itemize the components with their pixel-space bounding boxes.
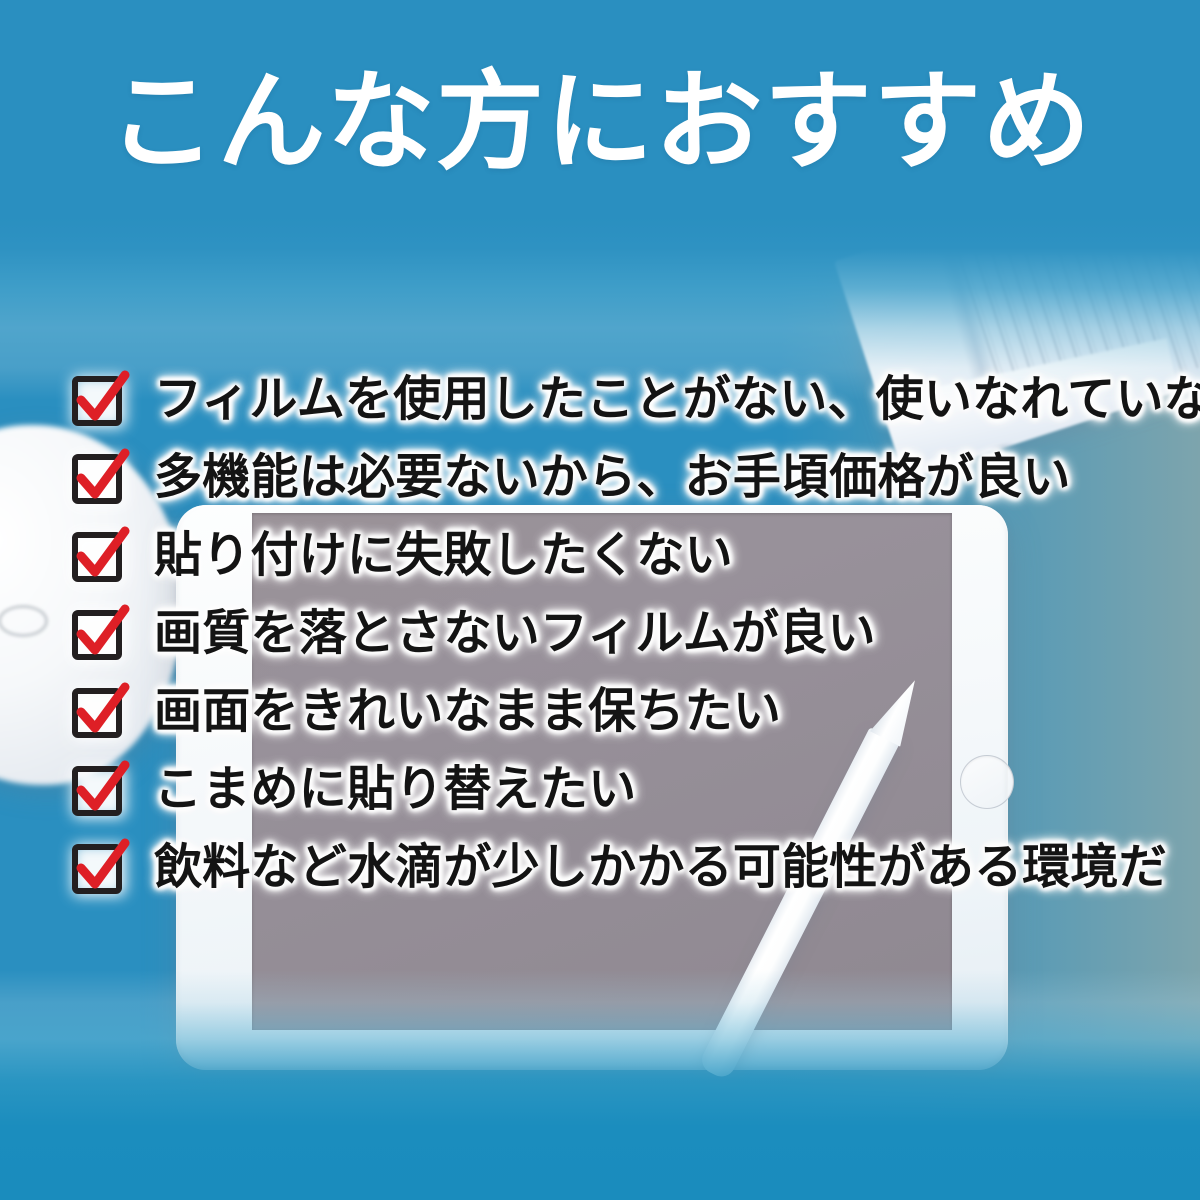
checkbox-checked-icon (70, 372, 128, 430)
list-item: 貼り付けに失敗したくない (66, 518, 1186, 596)
bottom-blue-gradient (0, 970, 1200, 1200)
list-item-label: 画質を落とさないフィルムが良い (154, 610, 876, 660)
list-item-label: 画面をきれいなまま保ちたい (154, 688, 781, 738)
list-item: フィルムを使用したことがない、使いなれていない (66, 362, 1186, 440)
list-item-label: こまめに貼り替えたい (154, 766, 636, 816)
checkbox-checked-icon (70, 684, 128, 742)
round-object-detail (0, 605, 48, 637)
list-item-label: 貼り付けに失敗したくない (154, 532, 733, 582)
checkbox-checked-icon (70, 528, 128, 586)
list-item: こまめに貼り替えたい (66, 752, 1186, 830)
checkbox-checked-icon (70, 840, 128, 898)
list-item-label: フィルムを使用したことがない、使いなれていない (154, 376, 1200, 426)
list-item-label: 多機能は必要ないから、お手頃価格が良い (154, 454, 1071, 504)
promo-banner: こんな方におすすめ フィルムを使用したことがない、使いなれていない 多機能は (0, 0, 1200, 1200)
checkbox-checked-icon (70, 450, 128, 508)
top-blue-gradient (0, 0, 1200, 400)
list-item: 画質を落とさないフィルムが良い (66, 596, 1186, 674)
list-item: 飲料など水滴が少しかかる可能性がある環境だ (66, 830, 1186, 908)
checkbox-checked-icon (70, 762, 128, 820)
page-title: こんな方におすすめ (0, 62, 1200, 183)
checkbox-checked-icon (70, 606, 128, 664)
list-item: 多機能は必要ないから、お手頃価格が良い (66, 440, 1186, 518)
list-item: 画面をきれいなまま保ちたい (66, 674, 1186, 752)
list-item-label: 飲料など水滴が少しかかる可能性がある環境だ (154, 844, 1167, 894)
recommendation-checklist: フィルムを使用したことがない、使いなれていない 多機能は必要ないから、お手頃価格… (66, 362, 1186, 908)
